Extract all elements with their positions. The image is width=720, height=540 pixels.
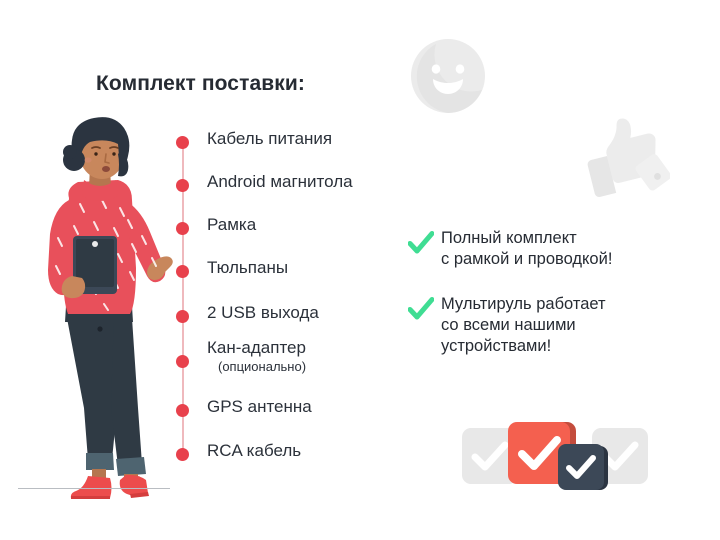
list-item-label: Android магнитола	[207, 172, 353, 192]
feature-callout-text: Полный комплект с рамкой и проводкой!	[441, 228, 612, 270]
list-item: GPS антенна	[176, 400, 426, 422]
bullet-dot-icon	[176, 136, 189, 149]
list-item: Кабель питания	[176, 132, 426, 154]
list-item-label: Рамка	[207, 215, 256, 235]
list-item-label: Кан-адаптер	[207, 338, 306, 358]
page-title: Комплект поставки:	[96, 72, 305, 96]
checkbox-group-icon	[462, 412, 648, 490]
list-item-label: Тюльпаны	[207, 258, 288, 278]
bullet-dot-icon	[176, 310, 189, 323]
checkbox-dark	[558, 444, 604, 490]
woman-pointing-illustration	[14, 108, 174, 508]
list-item-sublabel: (опционально)	[218, 359, 306, 374]
bullet-dot-icon	[176, 265, 189, 278]
check-icon	[408, 296, 434, 322]
avito-watermark-text: Avito	[637, 506, 684, 527]
list-item: RCA кабель	[176, 444, 426, 466]
list-item-label: Кабель питания	[207, 129, 332, 149]
smiley-face-icon	[410, 38, 486, 114]
list-item: Тюльпаны	[176, 261, 426, 283]
list-item-label: GPS антенна	[207, 397, 312, 417]
bullet-dot-icon	[176, 355, 189, 368]
bullet-dot-icon	[176, 222, 189, 235]
list-item: 2 USB выхода	[176, 306, 426, 328]
list-item: Рамка	[176, 218, 426, 240]
ground-line	[18, 488, 170, 489]
list-item-label: 2 USB выхода	[207, 303, 319, 323]
list-item-label: RCA кабель	[207, 441, 301, 461]
bullet-dot-icon	[176, 179, 189, 192]
check-icon	[558, 444, 604, 490]
feature-callout-text: Мультируль работает со всеми нашими устр…	[441, 294, 606, 357]
check-icon	[408, 230, 434, 256]
kit-contents-list: Кабель питания Android магнитола Рамка Т…	[176, 132, 426, 462]
avito-watermark: Avito	[604, 500, 708, 530]
bullet-dot-icon	[176, 448, 189, 461]
bullet-dot-icon	[176, 404, 189, 417]
list-item: Кан-адаптер (опционально)	[176, 351, 426, 373]
thumbs-up-icon	[578, 112, 670, 204]
list-item: Android магнитола	[176, 175, 426, 197]
promo-banner: Комплект поставки: Кабель питания Androi…	[0, 0, 720, 540]
